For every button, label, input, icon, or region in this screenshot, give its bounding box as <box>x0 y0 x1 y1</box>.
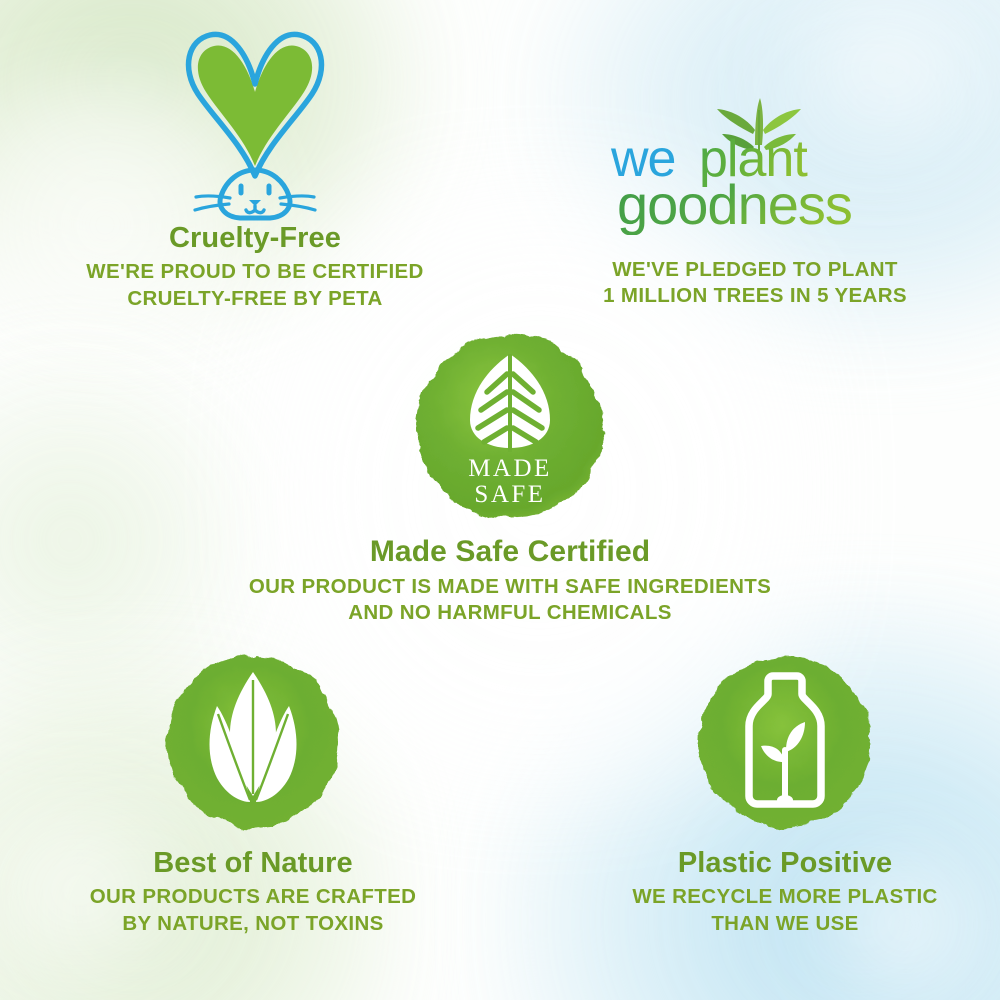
subtitle-line: WE RECYCLE MORE PLASTIC <box>632 885 937 908</box>
badge-subtitle-best-of-nature: OUR PRODUCTS ARE CRAFTED BY NATURE, NOT … <box>18 884 488 936</box>
subtitle-line: WE'VE PLEDGED TO PLANT <box>612 258 898 281</box>
logo-word-goodness: goodness <box>617 173 852 235</box>
three-leaves-icon <box>18 650 488 836</box>
bunny-heart-ears-icon <box>20 18 490 223</box>
bunny-whisker-right-1 <box>280 196 314 198</box>
we-plant-goodness-logo: we plant goodness <box>520 90 990 235</box>
badge-subtitle-plastic-positive: WE RECYCLE MORE PLASTIC THAN WE USE <box>555 884 1000 936</box>
subtitle-line: WE'RE PROUD TO BE CERTIFIED <box>86 260 423 283</box>
badge-made-safe: MADE SAFE Made Safe Certified OUR PRODUC… <box>215 330 805 626</box>
badge-title-plastic-positive: Plastic Positive <box>555 848 1000 878</box>
subtitle-line: 1 MILLION TREES IN 5 YEARS <box>603 284 907 307</box>
badge-title-cruelty-free: Cruelty-Free <box>20 223 490 253</box>
badge-subtitle-cruelty-free: WE'RE PROUD TO BE CERTIFIED CRUELTY-FREE… <box>20 259 490 311</box>
badge-plastic-positive: Plastic Positive WE RECYCLE MORE PLASTIC… <box>555 650 1000 937</box>
bunny-whisker-left-1 <box>196 196 230 198</box>
badge-cruelty-free: Cruelty-Free WE'RE PROUD TO BE CERTIFIED… <box>20 18 490 312</box>
subtitle-line: AND NO HARMFUL CHEMICALS <box>348 601 671 624</box>
seal-text-made: MADE <box>468 455 552 482</box>
subtitle-line: OUR PRODUCTS ARE CRAFTED <box>90 885 417 908</box>
badge-subtitle-made-safe: OUR PRODUCT IS MADE WITH SAFE INGREDIENT… <box>215 574 805 626</box>
subtitle-line: OUR PRODUCT IS MADE WITH SAFE INGREDIENT… <box>249 575 771 598</box>
bunny-ears-fill <box>197 46 311 166</box>
subtitle-line: BY NATURE, NOT TOXINS <box>122 912 383 935</box>
badge-title-made-safe: Made Safe Certified <box>215 536 805 568</box>
infographic-page: Cruelty-Free WE'RE PROUD TO BE CERTIFIED… <box>0 0 1000 1000</box>
bottle-sprout-icon <box>555 650 1000 836</box>
bunny-mouth <box>246 206 264 213</box>
subtitle-line: CRUELTY-FREE BY PETA <box>127 287 382 310</box>
made-safe-seal-icon: MADE SAFE <box>215 330 805 526</box>
subtitle-line: THAN WE USE <box>711 912 858 935</box>
badge-best-of-nature: Best of Nature OUR PRODUCTS ARE CRAFTED … <box>18 650 488 937</box>
seal-text-safe: SAFE <box>474 481 545 508</box>
badge-title-best-of-nature: Best of Nature <box>18 848 488 878</box>
badge-subtitle-we-plant-goodness: WE'VE PLEDGED TO PLANT 1 MILLION TREES I… <box>520 257 990 309</box>
badge-we-plant-goodness: we plant goodness WE'VE PLEDGED TO PLANT… <box>520 90 990 309</box>
